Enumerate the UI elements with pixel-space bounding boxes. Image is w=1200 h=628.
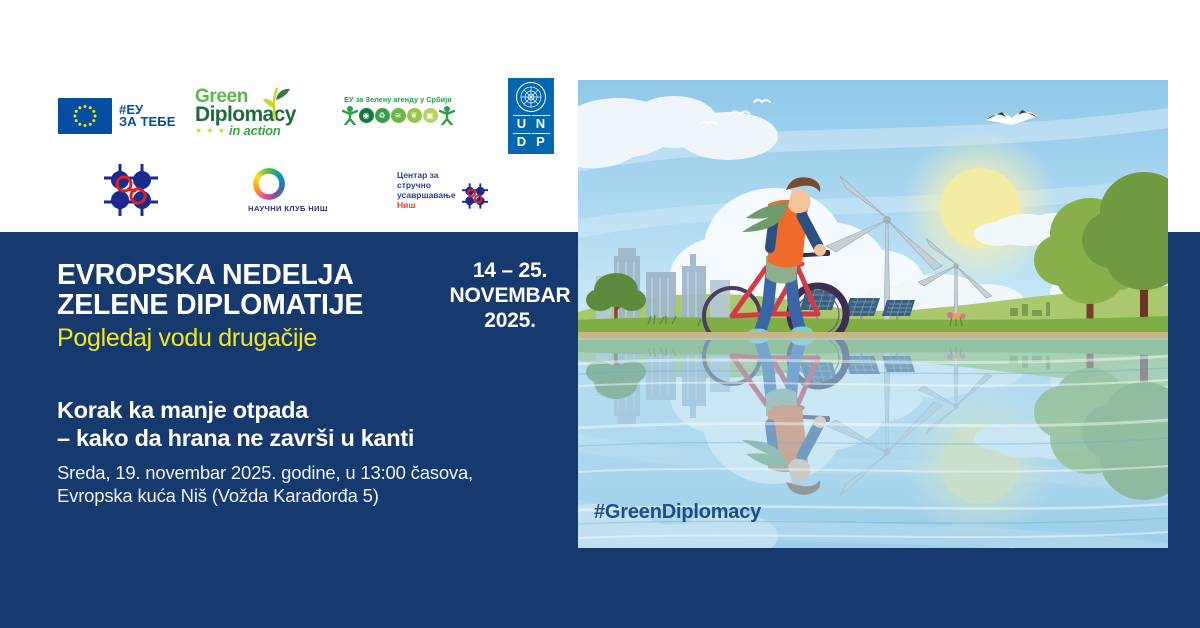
cz-line-4: Ниш	[397, 200, 456, 210]
event-block: Korak ka manje otpada – kako da hrana ne…	[57, 396, 557, 507]
eu-tag-line2: ЗА ТЕБЕ	[119, 116, 175, 129]
logo-blue-dots-institute	[100, 162, 240, 218]
cz-line-1: Центар за	[397, 170, 456, 180]
eu-za-tebe-text: #ЕУ ЗА ТЕБЕ	[119, 104, 175, 129]
event-details-line-2: Evropska kuća Niš (Vožda Karađorđa 5)	[57, 484, 557, 507]
rainbow-circle-icon	[253, 168, 285, 200]
date-line-3: 2025.	[440, 308, 580, 333]
undp-letter-n: N	[532, 115, 550, 132]
un-emblem-icon	[516, 82, 546, 112]
headline-block: EVROPSKA NEDELJA ZELENE DIPLOMATIJE Pogl…	[57, 260, 437, 352]
event-title-line-1: Korak ka manje otpada	[57, 396, 557, 424]
logo-eu-zelena-agenda: ЕУ за Зелену агенду у Србији ◉ ♻ ≋ ❦ ▣	[335, 95, 470, 137]
logo-eu-za-tebe: #ЕУ ЗА ТЕБЕ	[58, 98, 195, 134]
date-line-2: NOVEMBAR	[440, 283, 580, 308]
bag-icon: ▣	[423, 108, 438, 123]
date-block: 14 – 25. NOVEMBAR 2025.	[440, 258, 580, 333]
undp-letters: U N D P	[513, 115, 550, 150]
headline-subtitle: Pogledaj vodu drugačije	[57, 324, 437, 352]
naucni-klub-label: НАУЧНИ КЛУБ НИШ	[240, 204, 336, 213]
scene-above-water	[578, 80, 1168, 344]
plant-icon: ❦	[407, 108, 422, 123]
eu-flag-icon	[58, 98, 112, 134]
poster-root: #ЕУ ЗА ТЕБЕ Green Diplomacy ★ ★ ★	[0, 0, 1200, 628]
undp-letter-u: U	[513, 115, 531, 132]
illustration-panel: #GreenDiplomacy	[578, 80, 1168, 548]
gd-stars-icon: ★ ★ ★	[195, 126, 226, 135]
cz-dots-icon	[460, 181, 490, 211]
undp-letter-d: D	[513, 133, 531, 150]
person-icon-left	[342, 105, 358, 125]
lightbulb-icon: ◉	[359, 108, 374, 123]
cz-text-block: Центар за стручно усавршавање Ниш	[397, 170, 456, 210]
logo-naucni-klub-nis: НАУЧНИ КЛУБ НИШ	[240, 167, 395, 213]
person-icon-right	[439, 105, 455, 125]
event-title-line-2: – kako da hrana ne završi u kanti	[57, 424, 557, 452]
illustration-artwork	[578, 80, 1168, 548]
date-line-1: 14 – 25.	[440, 258, 580, 283]
undp-letter-p: P	[532, 133, 550, 150]
logo-row-secondary: НАУЧНИ КЛУБ НИШ Центар за стручно усаврш…	[100, 160, 517, 220]
headline-line-2: ZELENE DIPLOMATIJE	[57, 290, 437, 320]
gd-word-in-action: in action	[229, 124, 281, 137]
logo-row-primary: #ЕУ ЗА ТЕБЕ Green Diplomacy ★ ★ ★	[58, 88, 568, 144]
logo-green-diplomacy: Green Diplomacy ★ ★ ★ in action	[195, 88, 335, 144]
cz-line-2: стручно	[397, 180, 456, 190]
recycle-icon: ♻	[375, 108, 390, 123]
headline-line-1: EVROPSKA NEDELJA	[57, 260, 437, 290]
logo-centar-strucno-usavrsavanje: Центар за стручно усавршавање Ниш	[397, 169, 517, 211]
water-icon: ≋	[391, 108, 406, 123]
ga-title-text: ЕУ за Зелену агенду у Србији	[335, 95, 461, 104]
rainbow-square-icon	[292, 168, 324, 200]
cz-line-3: усавршавање	[397, 190, 456, 200]
logo-undp: U N D P	[508, 78, 568, 154]
hashtag-green-diplomacy: #GreenDiplomacy	[594, 501, 761, 524]
leaf-icon	[257, 86, 293, 120]
event-details-line-1: Sreda, 19. novembar 2025. godine, u 13:0…	[57, 461, 557, 484]
